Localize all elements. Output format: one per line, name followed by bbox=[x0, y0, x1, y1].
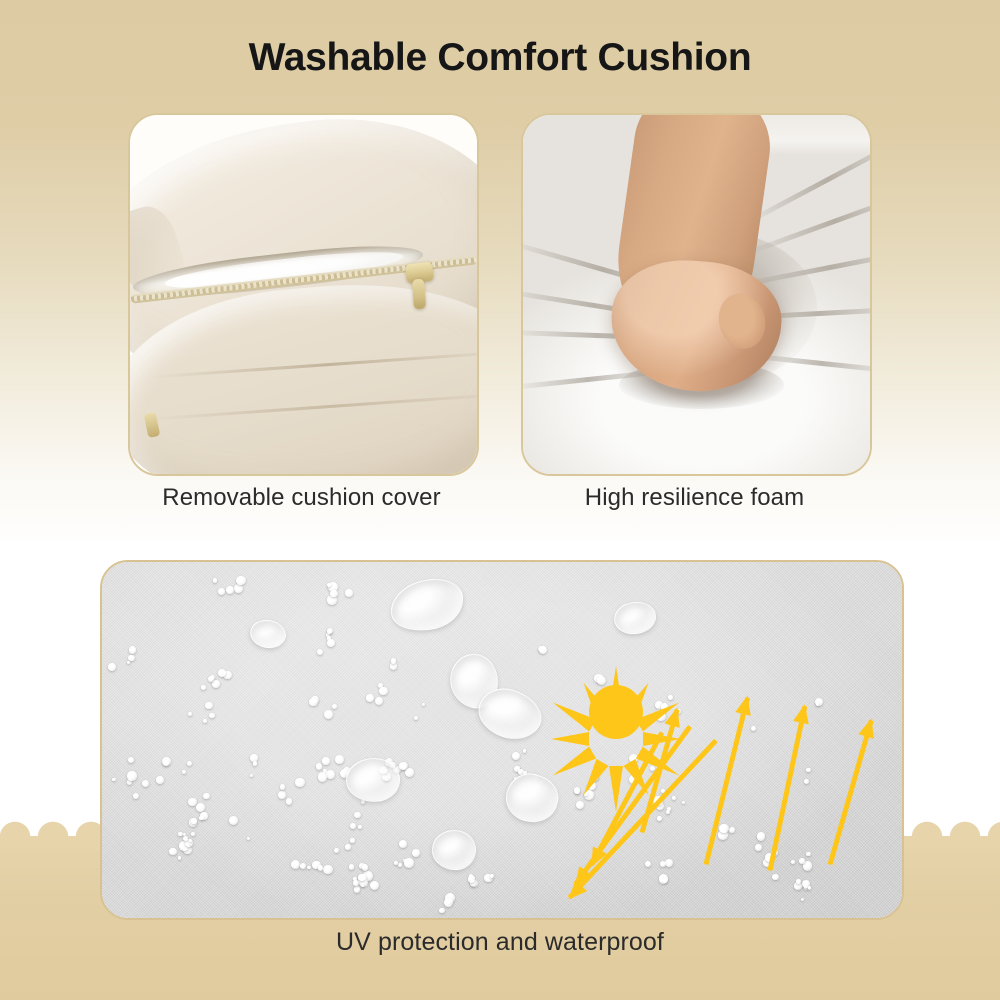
cover-photo bbox=[130, 115, 477, 474]
caption-uv-waterproof: UV protection and waterproof bbox=[100, 928, 900, 957]
foam-photo bbox=[523, 115, 870, 474]
caption-high-resilience-foam: High resilience foam bbox=[521, 484, 868, 512]
panel-removable-cover bbox=[128, 113, 479, 476]
page-title: Washable Comfort Cushion bbox=[0, 36, 1000, 80]
sun-graphic bbox=[102, 562, 902, 918]
sun-ray bbox=[551, 732, 589, 746]
panel-uv-waterproof bbox=[100, 560, 904, 920]
panel-high-resilience-foam bbox=[521, 113, 872, 476]
caption-removable-cover: Removable cushion cover bbox=[128, 484, 475, 512]
uv-photo bbox=[102, 562, 902, 918]
zipper-pull-tab bbox=[412, 279, 426, 310]
infographic-canvas: Washable Comfort Cushion Removable cushi… bbox=[0, 0, 1000, 1000]
sun-core-icon bbox=[589, 685, 643, 739]
